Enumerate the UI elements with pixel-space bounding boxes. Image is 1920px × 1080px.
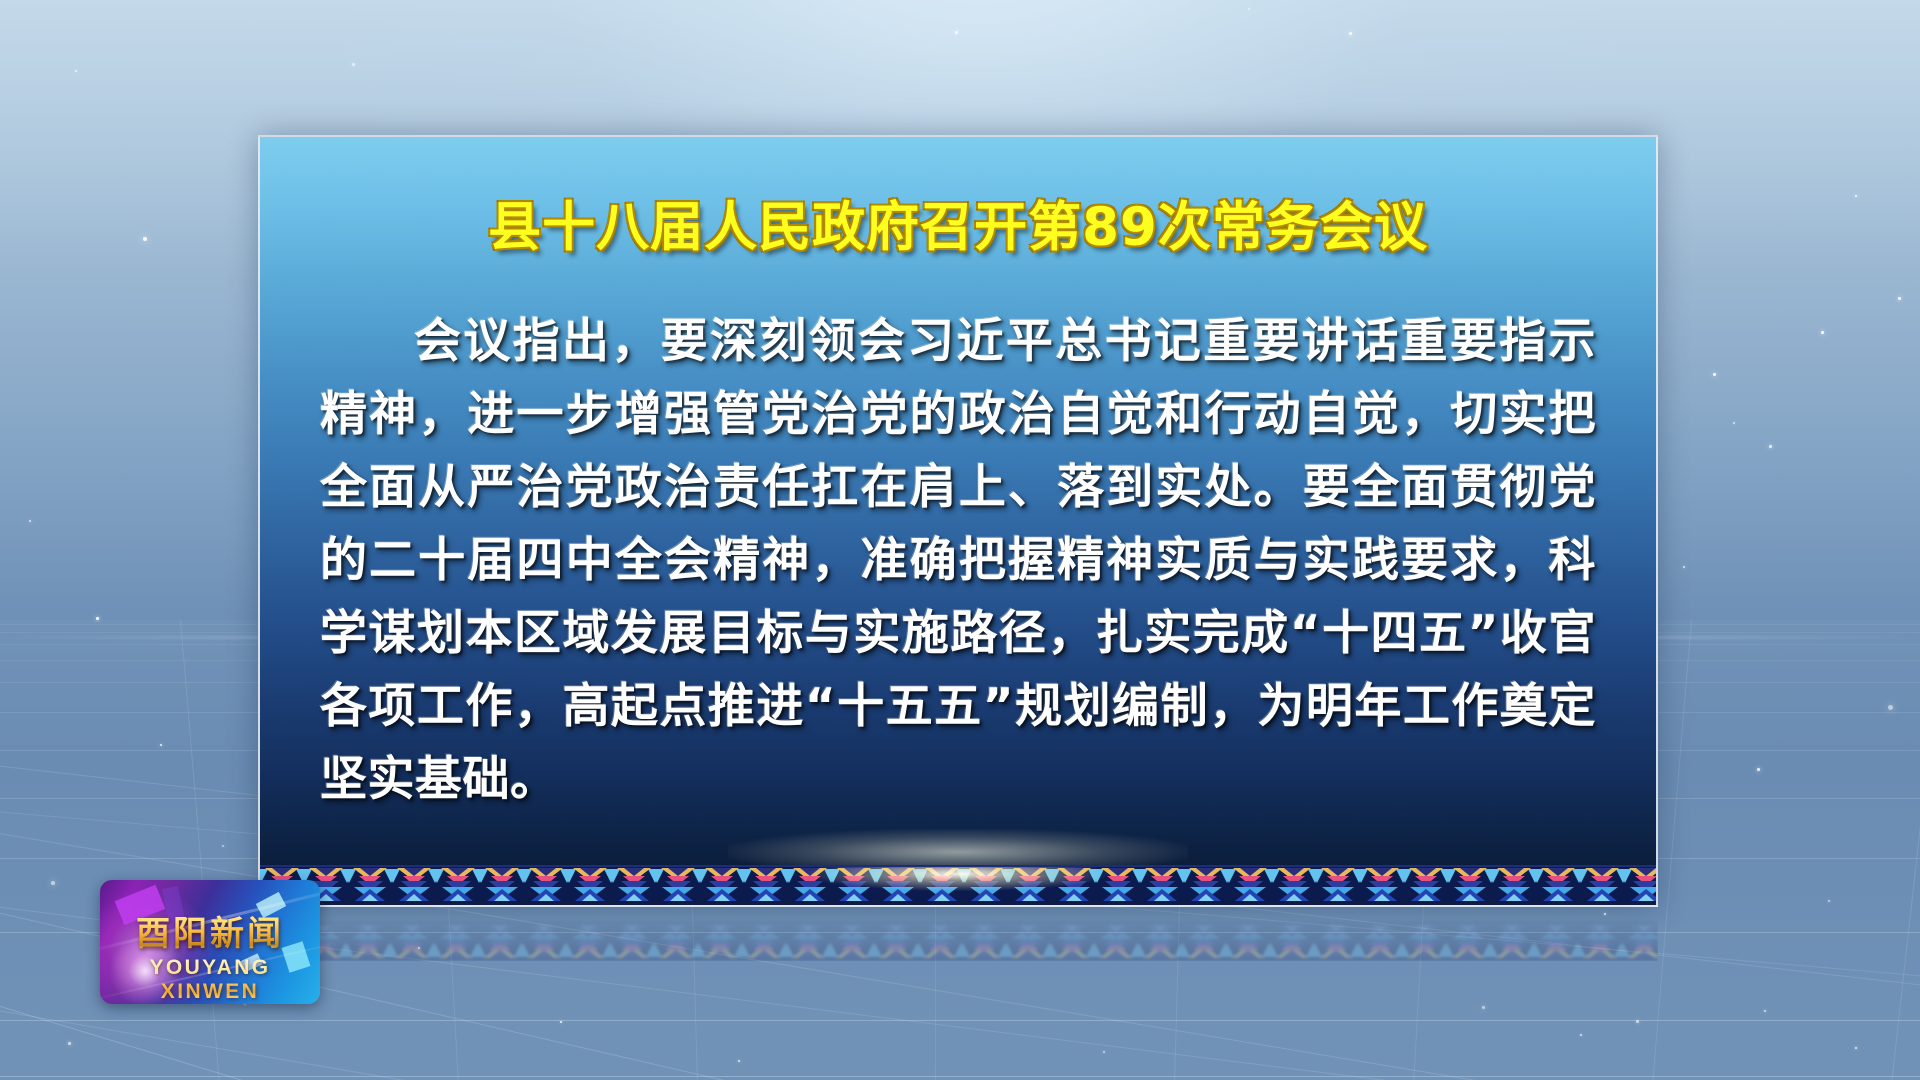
background-dot	[1821, 331, 1824, 334]
ornament-reflection	[258, 915, 1658, 961]
background-dot	[96, 617, 99, 620]
background-dot	[1855, 195, 1857, 197]
background-dot	[1683, 566, 1685, 568]
background-dot	[1764, 1010, 1766, 1012]
background-dot	[1888, 705, 1893, 710]
ornament-reflection-tiles	[258, 924, 1658, 959]
background-dot	[1580, 1034, 1582, 1036]
ornament-reflection-strip	[258, 921, 1658, 961]
background-dot	[955, 31, 958, 34]
background-dot	[1482, 1006, 1485, 1009]
panel-body-paragraph: 会议指出，要深刻领会习近平总书记重要讲话重要指示精神，进一步增强管党治党的政治自…	[320, 305, 1596, 816]
background-dot	[68, 1042, 71, 1045]
background-dot	[1757, 768, 1760, 771]
ethnic-pattern-border	[260, 865, 1656, 905]
broadcast-stage: 县十八届人民政府召开第89次常务会议 会议指出，要深刻领会习近平总书记重要讲话重…	[0, 0, 1920, 1080]
background-dot	[352, 63, 355, 66]
background-dot	[222, 845, 224, 847]
channel-logo: 酉阳新闻 YOUYANG XINWEN	[100, 880, 320, 1004]
content-panel: 县十八届人民政府召开第89次常务会议 会议指出，要深刻领会习近平总书记重要讲话重…	[258, 135, 1658, 907]
background-dot	[1855, 1047, 1857, 1049]
background-dot	[1828, 900, 1830, 902]
background-dot	[560, 1021, 562, 1023]
panel-body-text: 会议指出，要深刻领会习近平总书记重要讲话重要指示精神，进一步增强管党治党的政治自…	[272, 305, 1644, 816]
background-dot	[1769, 445, 1772, 448]
background-dot	[1349, 32, 1352, 35]
logo-name-chinese: 酉阳新闻	[100, 906, 320, 955]
logo-name-pinyin: YOUYANG XINWEN	[100, 956, 320, 1004]
background-dot	[143, 237, 147, 241]
background-dot	[1248, 8, 1250, 10]
background-dot	[29, 520, 31, 522]
ethnic-pattern-motif	[1622, 924, 1658, 959]
background-dot	[1733, 422, 1735, 424]
background-dot	[75, 70, 77, 72]
background-dot	[1713, 373, 1716, 376]
ethnic-pattern-motif	[1624, 867, 1656, 902]
background-dot	[1636, 1020, 1639, 1023]
background-dot	[1103, 1051, 1105, 1053]
background-dot	[160, 744, 162, 746]
background-dot	[738, 1060, 740, 1062]
background-dot	[51, 881, 55, 885]
panel-title: 县十八届人民政府召开第89次常务会议	[260, 199, 1656, 257]
background-dot	[1898, 297, 1901, 300]
ethnic-pattern-tiles	[260, 867, 1656, 902]
